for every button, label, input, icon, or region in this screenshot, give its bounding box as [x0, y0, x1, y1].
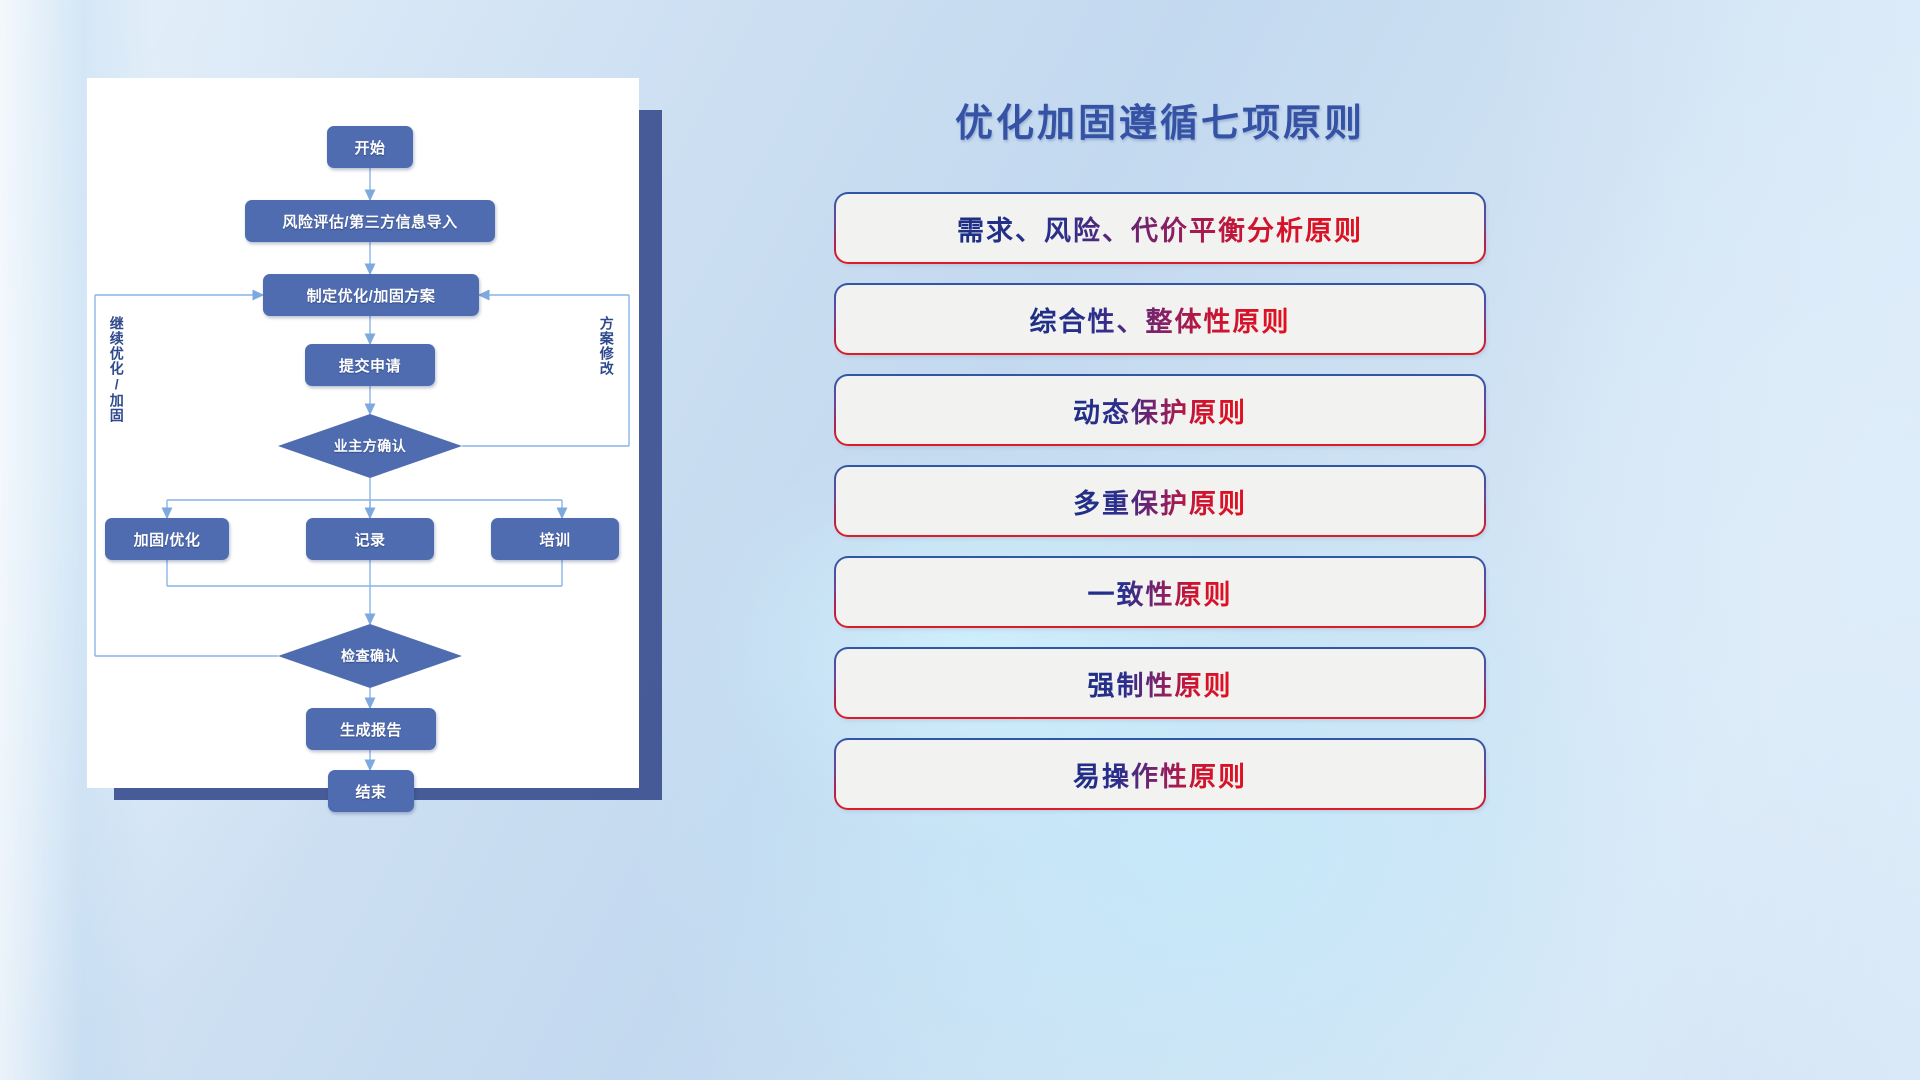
principle-item-6-label: 强制性原则 [1088, 664, 1233, 703]
flow-node-plan[interactable]: 制定优化/加固方案 [263, 274, 479, 316]
principle-item-7-label: 易操作性原则 [1073, 755, 1247, 794]
flow-node-inspect[interactable]: 检查确认 [278, 642, 462, 670]
flow-node-inspect-label: 检查确认 [341, 646, 399, 666]
flow-node-report-label: 生成报告 [340, 719, 402, 740]
flow-node-plan-label: 制定优化/加固方案 [307, 285, 436, 306]
flow-node-start-label: 开始 [354, 137, 385, 158]
principle-item-4-label: 多重保护原则 [1073, 482, 1247, 521]
flow-node-report[interactable]: 生成报告 [306, 708, 436, 750]
flow-node-end-label: 结束 [355, 781, 386, 802]
principle-item-3[interactable]: 动态保护原则 [836, 376, 1484, 444]
principle-item-3-label: 动态保护原则 [1073, 391, 1247, 430]
flow-loop-label-right: 方案修改 [599, 316, 614, 426]
flow-node-record-label: 记录 [354, 529, 385, 550]
flow-node-training-label: 培训 [539, 529, 570, 550]
principle-item-6[interactable]: 强制性原则 [836, 649, 1484, 717]
principle-item-2[interactable]: 综合性、整体性原则 [836, 285, 1484, 353]
flow-node-risk-assessment[interactable]: 风险评估/第三方信息导入 [245, 200, 495, 242]
principle-item-7[interactable]: 易操作性原则 [836, 740, 1484, 808]
flow-node-training[interactable]: 培训 [491, 518, 619, 560]
flow-node-end[interactable]: 结束 [328, 770, 414, 812]
principle-item-4[interactable]: 多重保护原则 [836, 467, 1484, 535]
flow-node-owner-check-label: 业主方确认 [334, 436, 407, 456]
flow-loop-label-left: 继续优化/加固 [109, 316, 124, 456]
flow-node-record[interactable]: 记录 [306, 518, 434, 560]
flow-node-risk-assessment-label: 风险评估/第三方信息导入 [282, 211, 457, 232]
background-streak-right [1500, 0, 1920, 1080]
flow-node-reinforce[interactable]: 加固/优化 [105, 518, 229, 560]
flow-node-submit[interactable]: 提交申请 [305, 344, 435, 386]
principle-item-1-label: 需求、风险、代价平衡分析原则 [957, 209, 1363, 248]
principle-item-5[interactable]: 一致性原则 [836, 558, 1484, 626]
principles-panel: 优化加固遵循七项原则 需求、风险、代价平衡分析原则 综合性、整体性原则 动态保护… [820, 70, 1500, 830]
flow-node-start[interactable]: 开始 [327, 126, 413, 168]
flow-node-submit-label: 提交申请 [339, 355, 401, 376]
page-title: 优化加固遵循七项原则 [820, 92, 1500, 147]
flow-node-reinforce-label: 加固/优化 [134, 529, 201, 550]
flowchart-card: 开始 风险评估/第三方信息导入 制定优化/加固方案 提交申请 业主方确认 加固/… [87, 78, 639, 788]
principle-item-1[interactable]: 需求、风险、代价平衡分析原则 [836, 194, 1484, 262]
flow-node-owner-check[interactable]: 业主方确认 [278, 432, 462, 460]
principle-item-5-label: 一致性原则 [1088, 573, 1233, 612]
principle-item-2-label: 综合性、整体性原则 [1030, 300, 1291, 339]
